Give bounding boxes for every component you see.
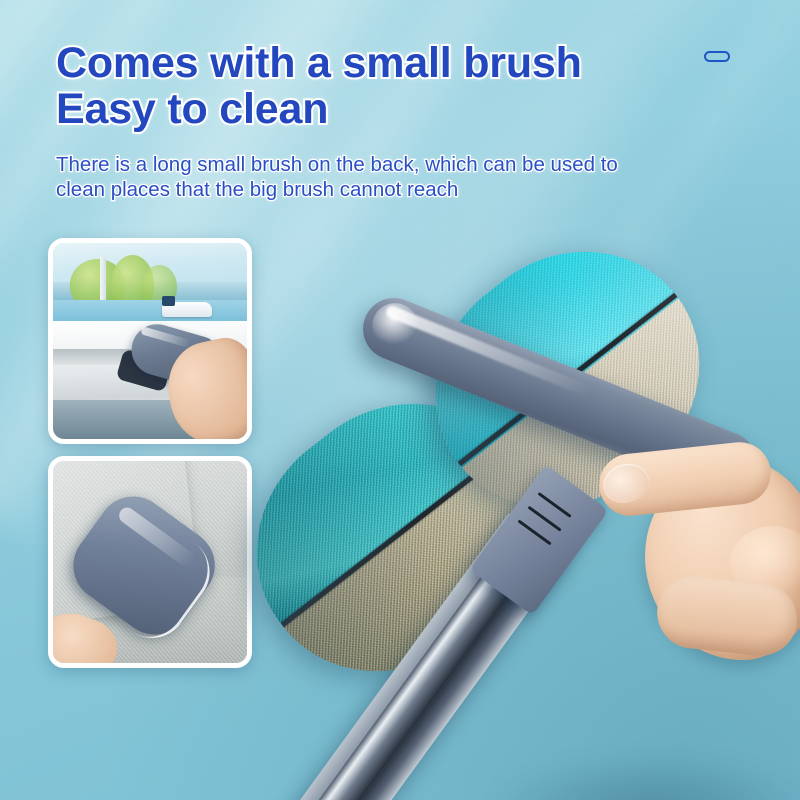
product-illustration — [250, 230, 800, 800]
inset-image — [53, 243, 247, 439]
inset-image — [53, 461, 247, 663]
window-boat-cabin — [162, 296, 176, 306]
copy-block: Comes with a small brush Easy to clean T… — [56, 40, 726, 202]
neck-slot — [537, 492, 572, 518]
inset-photo-window-sill — [48, 238, 252, 444]
product-banner: Comes with a small brush Easy to clean T… — [0, 0, 800, 800]
headline: Comes with a small brush Easy to clean — [56, 40, 726, 132]
inset-photo-sofa — [48, 456, 252, 668]
dash-badge-icon — [704, 51, 730, 62]
neck-slot — [528, 506, 563, 532]
fingernail — [599, 459, 654, 508]
product-shadow — [480, 750, 800, 800]
subtitle: There is a long small brush on the back,… — [56, 152, 726, 202]
neck-slot — [518, 519, 553, 545]
hand-gripping-handle — [605, 430, 800, 665]
